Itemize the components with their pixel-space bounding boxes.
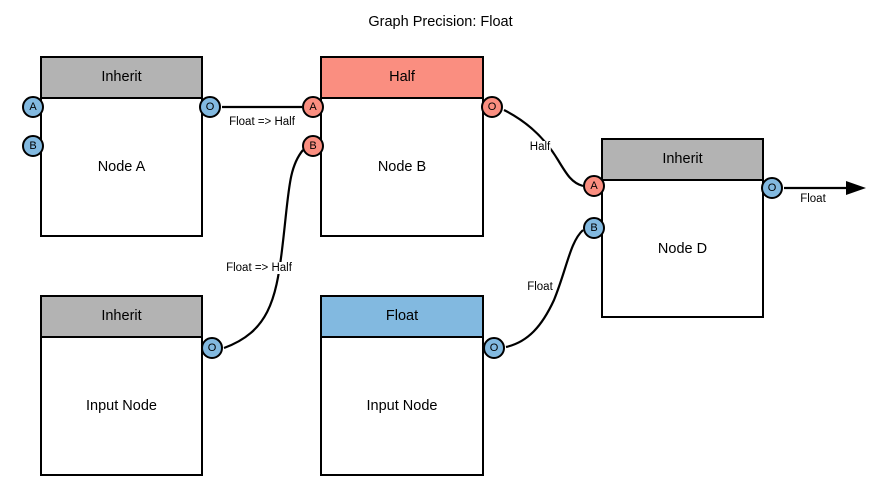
edge-label: Float => Half (225, 262, 293, 274)
node-body-title: Node A (42, 99, 201, 235)
node-body-title: Input Node (322, 338, 482, 474)
port-node-a-a[interactable]: A (22, 96, 44, 118)
port-node-a-o[interactable]: O (199, 96, 221, 118)
port-node-b-a[interactable]: A (302, 96, 324, 118)
port-node-d-a[interactable]: A (583, 175, 605, 197)
edge-1-connector (224, 150, 303, 348)
node-node-a[interactable]: InheritNode A (40, 56, 203, 237)
port-node-b-o[interactable]: O (481, 96, 503, 118)
port-node-b-b[interactable]: B (302, 135, 324, 157)
port-node-d-o[interactable]: O (761, 177, 783, 199)
node-graph-canvas: Graph Precision: Float InheritNode AABOH… (0, 0, 881, 504)
port-input-node-left-o[interactable]: O (201, 337, 223, 359)
node-body-title: Node D (603, 181, 762, 316)
node-node-b[interactable]: HalfNode B (320, 56, 484, 237)
node-node-d[interactable]: InheritNode D (601, 138, 764, 318)
node-input-node-right[interactable]: FloatInput Node (320, 295, 484, 476)
node-header-precision[interactable]: Float (322, 297, 482, 338)
node-header-precision[interactable]: Inherit (603, 140, 762, 181)
node-header-precision[interactable]: Inherit (42, 58, 201, 99)
node-header-precision[interactable]: Half (322, 58, 482, 99)
node-body-title: Input Node (42, 338, 201, 474)
port-node-d-b[interactable]: B (583, 217, 605, 239)
edge-label: Half (529, 141, 551, 153)
graph-output-arrowhead (846, 181, 866, 195)
edge-label: Float (526, 281, 554, 293)
graph-output-label: Float (799, 193, 827, 205)
page-title: Graph Precision: Float (0, 14, 881, 30)
edge-label: Float => Half (228, 116, 296, 128)
node-input-node-left[interactable]: InheritInput Node (40, 295, 203, 476)
port-input-node-right-o[interactable]: O (483, 337, 505, 359)
node-header-precision[interactable]: Inherit (42, 297, 201, 338)
port-node-a-b[interactable]: B (22, 135, 44, 157)
node-body-title: Node B (322, 99, 482, 235)
